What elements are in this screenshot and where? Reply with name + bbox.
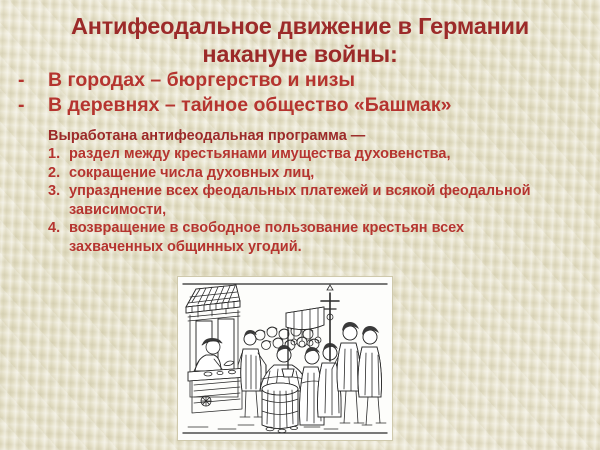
bullet-list: - В городах – бюргерство и низы - В дере… <box>14 68 586 118</box>
program-item-2: 2. сокращение числа духовных лиц, <box>48 164 558 183</box>
program-item-1: 1. раздел между крестьянами имущества ду… <box>48 145 558 164</box>
title-line-2: накануне войны: <box>16 40 584 68</box>
program-intro: Выработана антифеодальная программа — <box>48 127 365 145</box>
bullet-dash-icon: - <box>14 68 48 93</box>
program-item-3-number: 3. <box>48 182 69 201</box>
woodcut-illustration <box>178 277 392 440</box>
program-item-4: 4. возвращение в свободное пользование к… <box>48 219 558 256</box>
program-item-3: 3. упразднение всех феодальных платежей … <box>48 182 558 219</box>
bullet-item-villages-label: В деревнях – тайное общество «Башмак» <box>48 93 452 118</box>
program-item-1-label: раздел между крестьянами имущества духов… <box>69 145 558 164</box>
bullet-item-towns-label: В городах – бюргерство и низы <box>48 68 355 93</box>
program-item-4-label: возвращение в свободное пользование крес… <box>69 219 558 256</box>
slide-canvas: Антифеодальное движение в Германии накан… <box>0 0 600 450</box>
program-list: 1. раздел между крестьянами имущества ду… <box>48 145 558 257</box>
program-item-4-number: 4. <box>48 219 69 238</box>
bullet-item-towns: - В городах – бюргерство и низы <box>14 68 586 93</box>
program-item-1-number: 1. <box>48 145 69 164</box>
program-item-3-label: упразднение всех феодальных платежей и в… <box>69 182 558 219</box>
page-title: Антифеодальное движение в Германии накан… <box>16 12 584 68</box>
bullet-item-villages: - В деревнях – тайное общество «Башмак» <box>14 93 586 118</box>
program-item-2-number: 2. <box>48 164 69 183</box>
program-item-2-label: сокращение числа духовных лиц, <box>69 164 558 183</box>
woodcut-indulgence-sale-icon <box>178 277 392 440</box>
bullet-dash-icon: - <box>14 93 48 118</box>
title-line-1: Антифеодальное движение в Германии <box>16 12 584 40</box>
